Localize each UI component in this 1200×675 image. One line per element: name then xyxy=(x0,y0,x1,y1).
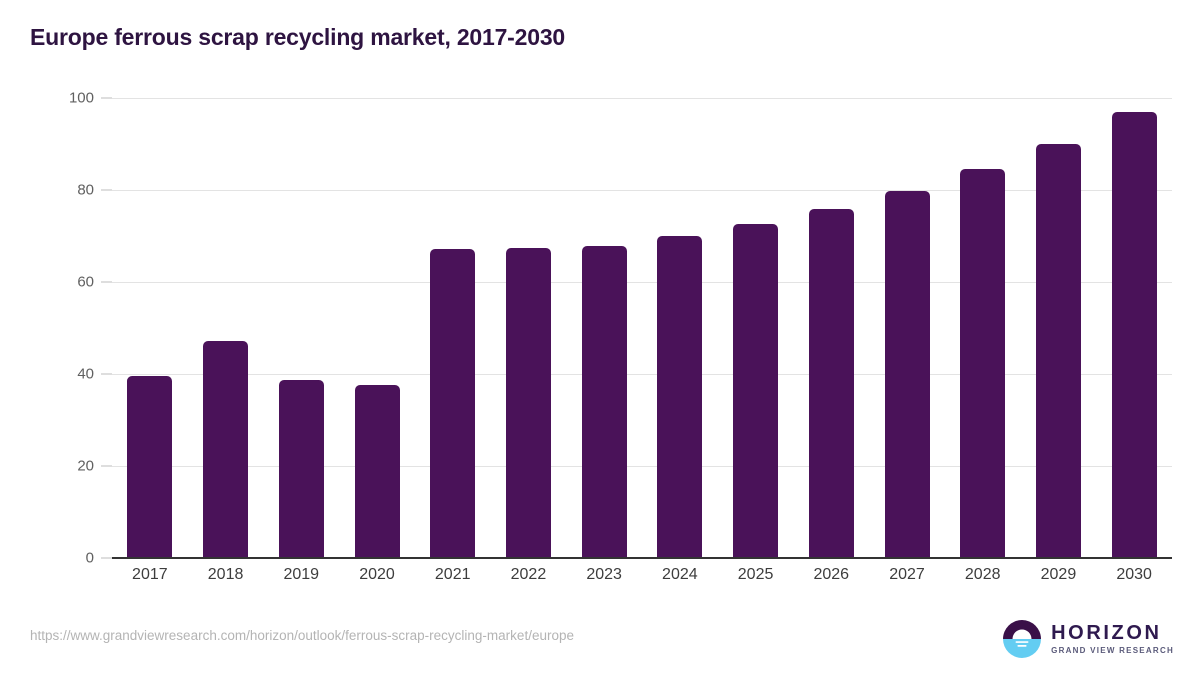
bar[interactable] xyxy=(506,248,551,558)
y-tick-label: 40 xyxy=(77,366,94,383)
bar[interactable] xyxy=(279,380,324,558)
page-title: Europe ferrous scrap recycling market, 2… xyxy=(30,24,565,51)
bar-slot xyxy=(506,98,551,558)
logo-name: HORIZON xyxy=(1051,623,1174,643)
bar[interactable] xyxy=(657,236,702,558)
logo-wordmark: HORIZON GRAND VIEW RESEARCH xyxy=(1051,623,1174,655)
gridline xyxy=(112,190,1172,191)
x-tick-label: 2029 xyxy=(1041,566,1077,584)
y-tick-label: 60 xyxy=(77,274,94,291)
y-tick-mark xyxy=(101,466,112,467)
x-tick-label: 2030 xyxy=(1116,566,1152,584)
bar-slot xyxy=(355,98,400,558)
bar-slot xyxy=(1112,98,1157,558)
horizon-logo: HORIZON GRAND VIEW RESEARCH xyxy=(1002,618,1174,660)
bar[interactable] xyxy=(582,246,627,558)
bar-slot xyxy=(733,98,778,558)
bar-slot xyxy=(885,98,930,558)
bar-slot xyxy=(279,98,324,558)
bar[interactable] xyxy=(1036,144,1081,558)
x-axis-labels: 2017201820192020202120222023202420252026… xyxy=(112,566,1172,596)
x-tick-label: 2020 xyxy=(359,566,395,584)
bar-slot xyxy=(657,98,702,558)
footer-divider xyxy=(0,608,1200,609)
bar[interactable] xyxy=(355,385,400,558)
y-tick-label: 20 xyxy=(77,458,94,475)
y-tick-mark xyxy=(101,282,112,283)
x-tick-label: 2026 xyxy=(813,566,849,584)
bar[interactable] xyxy=(733,224,778,558)
x-tick-label: 2021 xyxy=(435,566,471,584)
bar[interactable] xyxy=(1112,112,1157,558)
y-tick-mark xyxy=(101,190,112,191)
horizon-sunrise-circle-icon xyxy=(1002,619,1042,659)
x-tick-label: 2018 xyxy=(208,566,244,584)
gridline xyxy=(112,282,1172,283)
bar-slot xyxy=(430,98,475,558)
bar[interactable] xyxy=(809,209,854,558)
y-tick-label: 100 xyxy=(69,90,94,107)
chart-page: Europe ferrous scrap recycling market, 2… xyxy=(0,0,1200,675)
x-tick-label: 2019 xyxy=(283,566,319,584)
bar-slot xyxy=(1036,98,1081,558)
bar-slot xyxy=(127,98,172,558)
bar-slot xyxy=(960,98,1005,558)
gridline xyxy=(112,466,1172,467)
x-tick-label: 2017 xyxy=(132,566,168,584)
x-tick-label: 2024 xyxy=(662,566,698,584)
x-axis-line xyxy=(112,557,1172,559)
x-tick-label: 2028 xyxy=(965,566,1001,584)
y-tick-label: 0 xyxy=(86,550,94,567)
bar-slot xyxy=(809,98,854,558)
bar[interactable] xyxy=(885,191,930,558)
bar[interactable] xyxy=(203,341,248,558)
bar[interactable] xyxy=(960,169,1005,558)
x-tick-label: 2022 xyxy=(511,566,547,584)
y-axis-ticks: 020406080100 xyxy=(0,98,112,558)
bar-slot xyxy=(582,98,627,558)
x-tick-label: 2023 xyxy=(586,566,622,584)
plot-area xyxy=(112,98,1172,558)
y-tick-mark xyxy=(101,374,112,375)
y-tick-label: 80 xyxy=(77,182,94,199)
bar[interactable] xyxy=(430,249,475,558)
y-tick-mark xyxy=(101,98,112,99)
gridline xyxy=(112,374,1172,375)
x-tick-label: 2025 xyxy=(738,566,774,584)
source-url[interactable]: https://www.grandviewresearch.com/horizo… xyxy=(30,628,574,643)
x-tick-label: 2027 xyxy=(889,566,925,584)
gridline xyxy=(112,98,1172,99)
bar[interactable] xyxy=(127,376,172,558)
y-tick-mark xyxy=(101,558,112,559)
logo-tagline: GRAND VIEW RESEARCH xyxy=(1051,647,1174,655)
bar-slot xyxy=(203,98,248,558)
